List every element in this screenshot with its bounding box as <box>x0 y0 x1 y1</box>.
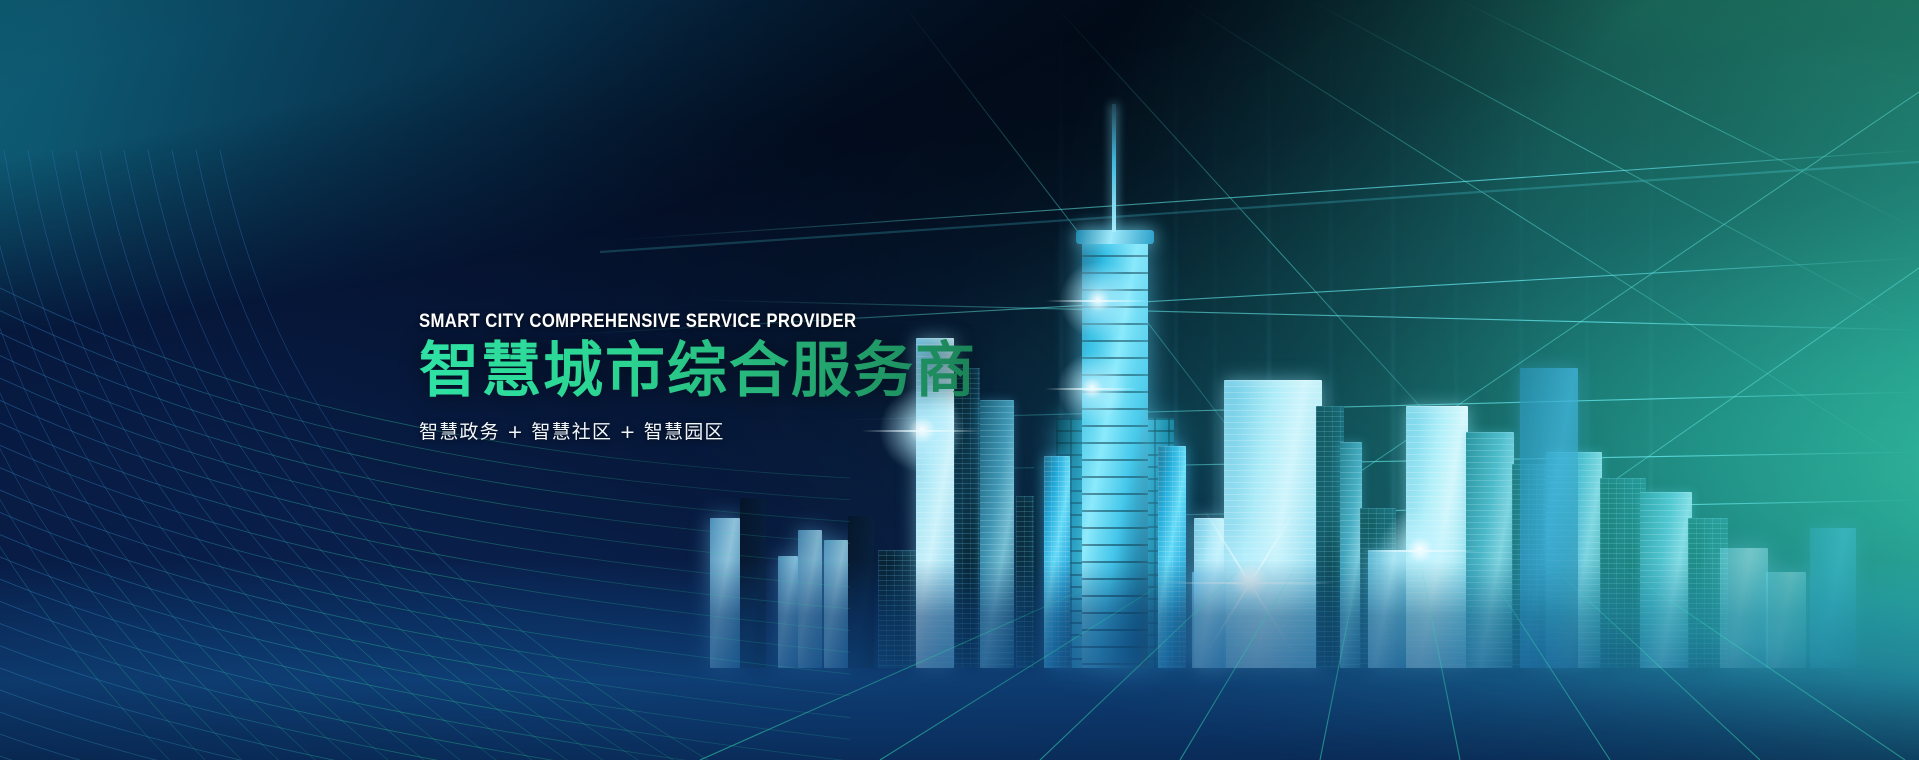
main-tower-spire <box>1112 104 1116 232</box>
wireframe-mesh-decoration <box>0 150 850 760</box>
banner-eyebrow: SMART CITY COMPREHENSIVE SERVICE PROVIDE… <box>419 311 910 333</box>
banner-copy-block: SMART CITY COMPREHENSIVE SERVICE PROVIDE… <box>419 311 977 444</box>
main-tower-cap <box>1076 230 1154 244</box>
banner-subline: 智慧政务 + 智慧社区 + 智慧园区 <box>419 417 977 444</box>
page-title: 智慧城市综合服务商 <box>419 339 977 404</box>
smart-city-banner: SMART CITY COMPREHENSIVE SERVICE PROVIDE… <box>0 0 1919 760</box>
